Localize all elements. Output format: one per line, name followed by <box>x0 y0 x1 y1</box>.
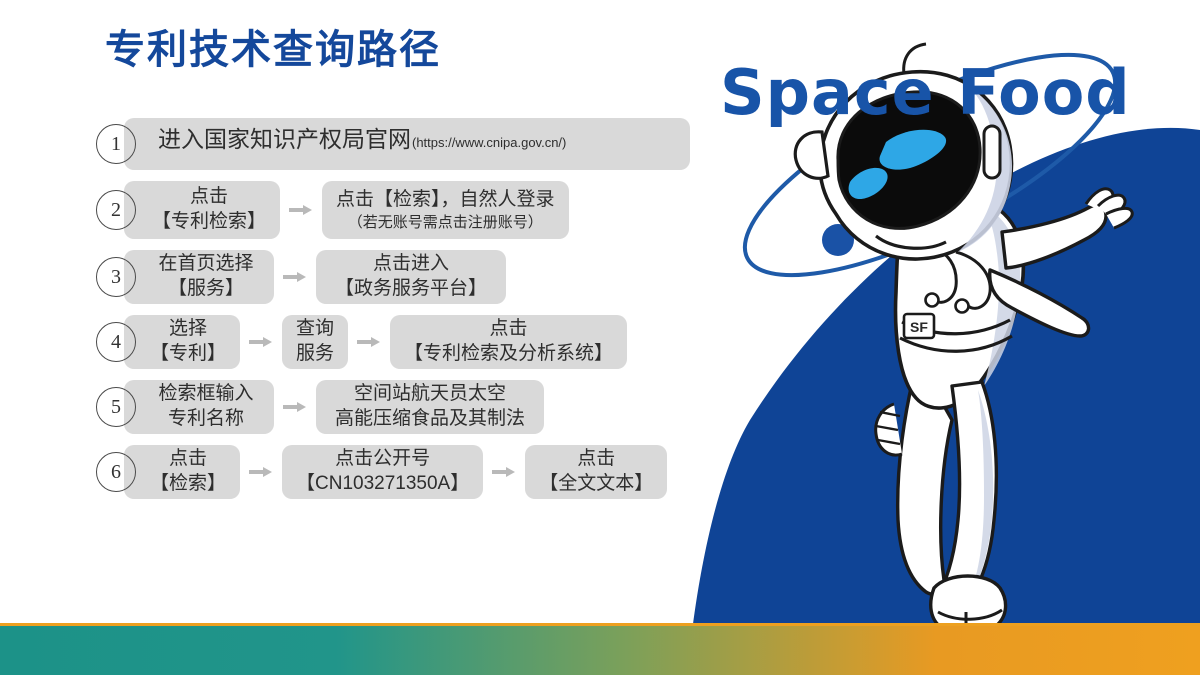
step-chips-5: 检索框输入 专利名称 空间站航天员太空 高能压缩食品及其制法 <box>124 380 544 434</box>
chip-line-1: 点击 <box>150 447 226 472</box>
step-chips-6: 点击 【检索】 点击公开号 【CN103271350A】 点击 【全文文本】 <box>124 445 667 499</box>
page-title: 专利技术查询路径 <box>105 26 441 74</box>
step-chip-3-2[interactable]: 点击进入 【政务服务平台】 <box>316 250 506 304</box>
slide-canvas: 专利技术查询路径 1 进入国家知识产权局官网 (https://www.cnip… <box>0 0 1200 675</box>
chip-line-2: 【专利】 <box>150 342 226 367</box>
step-number-3: 3 <box>96 257 136 297</box>
chip-line-1: 点击 <box>152 185 266 210</box>
step-row-4: 4 选择 【专利】 查询 服务 点击 【专利检索及分析系统】 <box>96 315 676 369</box>
step-number-6: 6 <box>96 452 136 492</box>
svg-text:SF: SF <box>910 319 928 335</box>
chip-line-1: 点击 <box>404 317 613 342</box>
step-row-5: 5 检索框输入 专利名称 空间站航天员太空 高能压缩食品及其制法 <box>96 380 676 434</box>
chip-line-primary: 进入国家知识产权局官网 <box>158 125 411 155</box>
step-chip-2-1[interactable]: 点击 【专利检索】 <box>124 181 280 239</box>
step-chips-2: 点击 【专利检索】 点击【检索】，自然人登录 （若无账号需点击注册账号） <box>124 181 569 239</box>
chip-line-1: 选择 <box>150 317 226 342</box>
chip-line-1: 在首页选择 <box>152 252 260 277</box>
step-chip-4-3[interactable]: 点击 【专利检索及分析系统】 <box>390 315 627 369</box>
chip-line-1: 点击公开号 <box>296 447 469 472</box>
step-chip-3-1[interactable]: 在首页选择 【服务】 <box>124 250 274 304</box>
chip-line-2: 【CN103271350A】 <box>296 472 469 497</box>
space-food-artwork: SF <box>690 0 1200 648</box>
step-chip-5-2[interactable]: 空间站航天员太空 高能压缩食品及其制法 <box>316 380 544 434</box>
arrow-right-icon <box>244 335 278 349</box>
step-row-3: 3 在首页选择 【服务】 点击进入 【政务服务平台】 <box>96 250 676 304</box>
step-number-4: 4 <box>96 322 136 362</box>
arrow-right-icon <box>487 465 521 479</box>
brand-logo-text: Space Food <box>720 56 1131 129</box>
step-chips-3: 在首页选择 【服务】 点击进入 【政务服务平台】 <box>124 250 506 304</box>
sf-badge: SF <box>904 314 934 338</box>
footer-bar <box>0 623 1200 675</box>
step-chip-6-3[interactable]: 点击 【全文文本】 <box>525 445 667 499</box>
chip-line-2: 服务 <box>296 342 334 367</box>
arrow-right-icon <box>244 465 278 479</box>
chip-line-2: 【专利检索及分析系统】 <box>404 342 613 367</box>
step-chip-2-2[interactable]: 点击【检索】，自然人登录 （若无账号需点击注册账号） <box>322 181 569 239</box>
chip-line-1: 空间站航天员太空 <box>330 382 530 407</box>
chip-line-2: 【专利检索】 <box>152 210 266 235</box>
chip-line-2: 【全文文本】 <box>539 472 653 497</box>
step-chip-5-1[interactable]: 检索框输入 专利名称 <box>124 380 274 434</box>
step-chips-1: 进入国家知识产权局官网 (https://www.cnipa.gov.cn/) <box>124 118 690 170</box>
chip-line-2: 高能压缩食品及其制法 <box>330 407 530 432</box>
chip-line-2: 【政务服务平台】 <box>330 277 492 302</box>
step-row-2: 2 点击 【专利检索】 点击【检索】，自然人登录 （若无账号需点击注册账号） <box>96 181 676 239</box>
step-number-2: 2 <box>96 190 136 230</box>
step-number-5: 5 <box>96 387 136 427</box>
arrow-right-icon <box>284 203 318 217</box>
chip-line-2: 【服务】 <box>152 277 260 302</box>
steps-list: 1 进入国家知识产权局官网 (https://www.cnipa.gov.cn/… <box>96 118 676 510</box>
step-chip-1-1[interactable]: 进入国家知识产权局官网 (https://www.cnipa.gov.cn/) <box>124 118 690 170</box>
step-number-1: 1 <box>96 124 136 164</box>
chip-sub-note: （若无账号需点击注册账号） <box>336 213 555 233</box>
step-chips-4: 选择 【专利】 查询 服务 点击 【专利检索及分析系统】 <box>124 315 627 369</box>
step-chip-6-1[interactable]: 点击 【检索】 <box>124 445 240 499</box>
chip-line-2: 【检索】 <box>150 472 226 497</box>
chip-line-1: 点击【检索】，自然人登录 <box>336 188 555 213</box>
step-chip-6-2[interactable]: 点击公开号 【CN103271350A】 <box>282 445 483 499</box>
chip-url-text: (https://www.cnipa.gov.cn/) <box>412 135 566 152</box>
step-chip-4-2[interactable]: 查询 服务 <box>282 315 348 369</box>
arrow-right-icon <box>352 335 386 349</box>
chip-line-1: 点击 <box>539 447 653 472</box>
step-row-1: 1 进入国家知识产权局官网 (https://www.cnipa.gov.cn/… <box>96 118 676 170</box>
chip-line-1: 检索框输入 <box>152 382 260 407</box>
step-row-6: 6 点击 【检索】 点击公开号 【CN103271350A】 点击 【全文文本】 <box>96 445 676 499</box>
step-chip-4-1[interactable]: 选择 【专利】 <box>124 315 240 369</box>
chip-line-1: 点击进入 <box>330 252 492 277</box>
arrow-right-icon <box>278 270 312 284</box>
chip-line-1: 查询 <box>296 317 334 342</box>
chip-line-2: 专利名称 <box>152 407 260 432</box>
arrow-right-icon <box>278 400 312 414</box>
